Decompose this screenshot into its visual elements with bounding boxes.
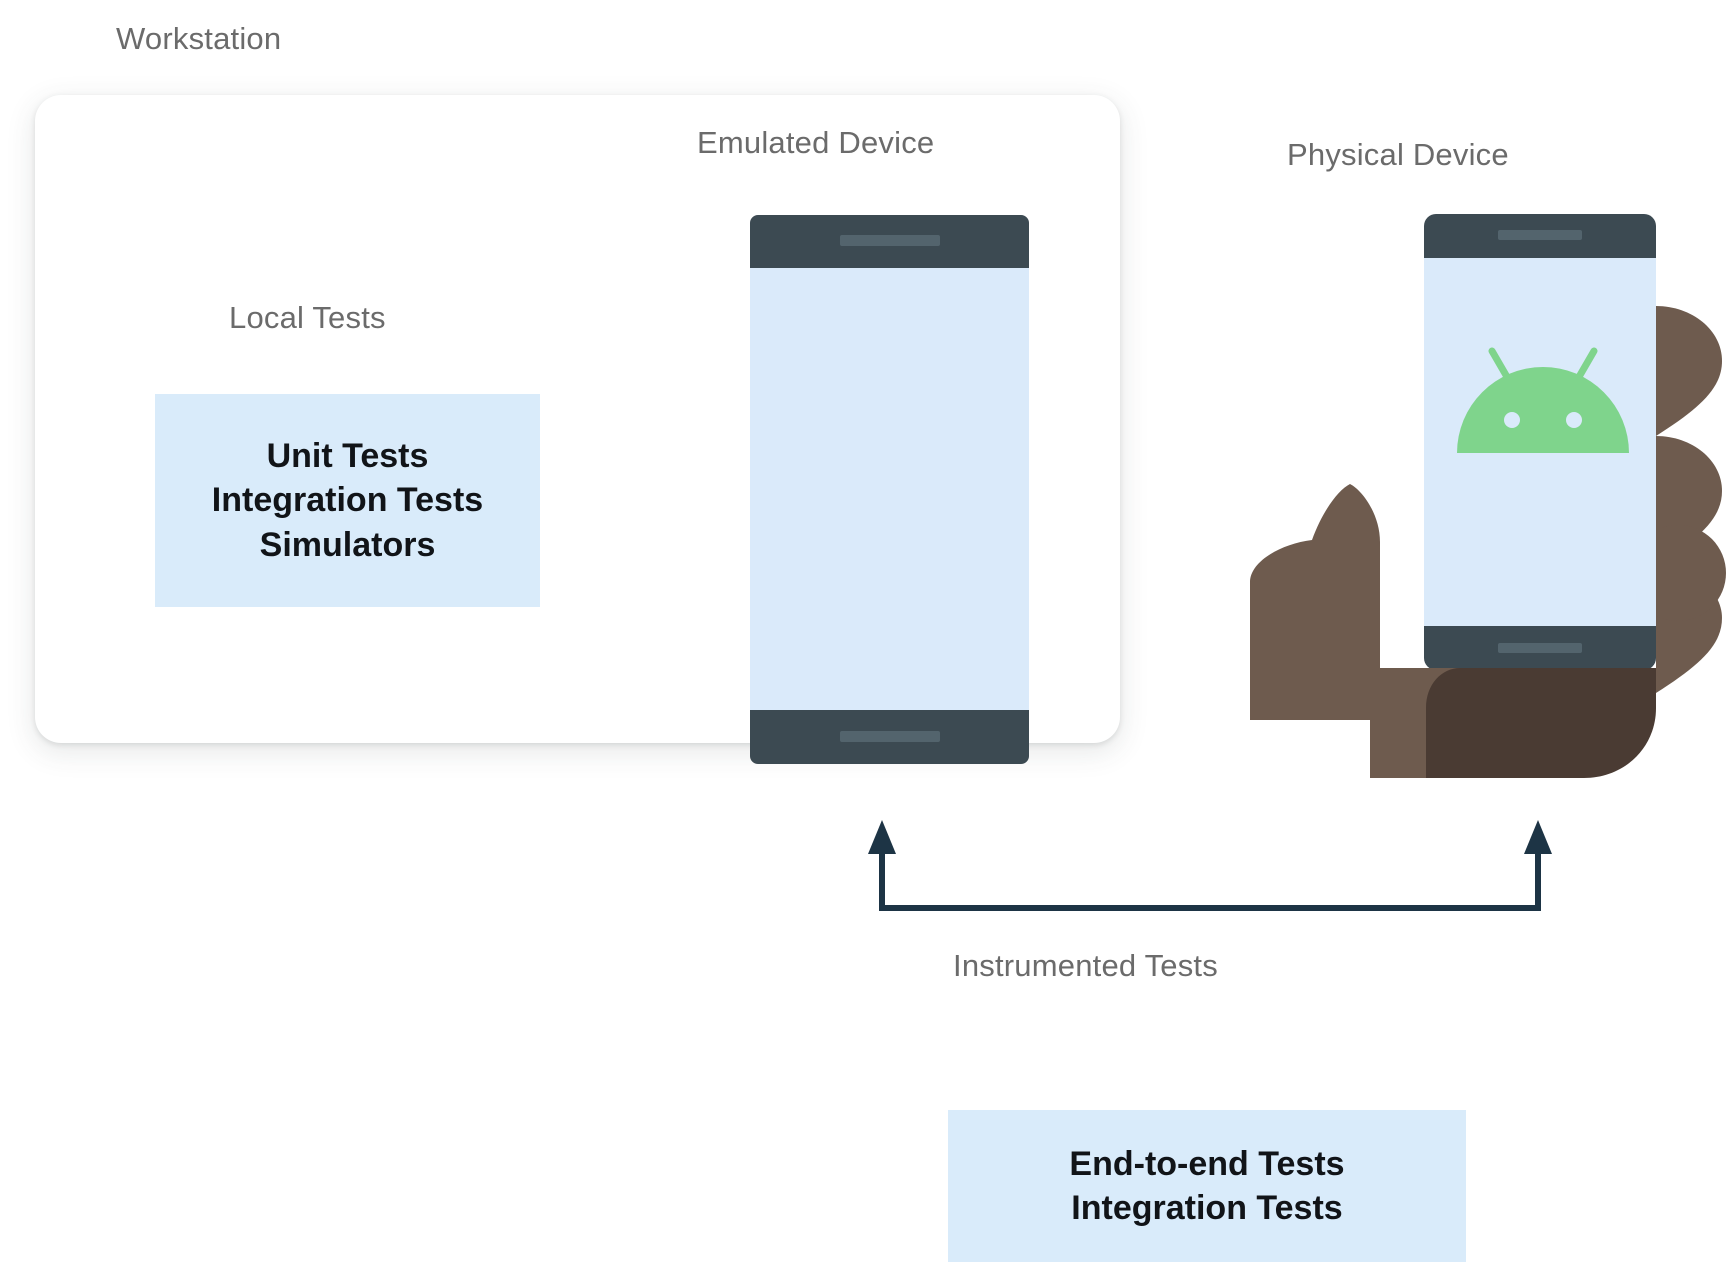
diagram-canvas: Workstation Local Tests Unit Tests Integ… <box>0 0 1726 1286</box>
instrumented-tests-item: Integration Tests <box>1071 1186 1342 1230</box>
local-tests-item: Simulators <box>260 523 436 567</box>
instrumented-tests-item: End-to-end Tests <box>1069 1142 1344 1186</box>
robot-head <box>1457 367 1629 453</box>
phone-bottom-bezel <box>1424 626 1656 670</box>
arrow-path <box>882 842 1538 908</box>
speaker-slot-icon <box>1498 643 1582 653</box>
local-tests-chip: Unit Tests Integration Tests Simulators <box>155 394 540 607</box>
local-tests-label: Local Tests <box>229 300 386 336</box>
arrowhead-right <box>1524 820 1552 854</box>
emulated-device-phone-icon <box>750 215 1029 764</box>
android-robot-icon <box>1457 345 1629 457</box>
workstation-label: Workstation <box>116 21 281 57</box>
phone-screen <box>750 268 1029 710</box>
instrumented-tests-label: Instrumented Tests <box>953 948 1218 984</box>
speaker-slot-icon <box>840 731 940 742</box>
phone-top-bezel <box>750 215 1029 268</box>
local-tests-item: Unit Tests <box>267 434 429 478</box>
emulated-device-label: Emulated Device <box>697 125 934 161</box>
robot-eye-right <box>1566 412 1582 428</box>
thumb-shape <box>1250 484 1380 720</box>
phone-bottom-bezel <box>750 710 1029 764</box>
robot-eye-left <box>1504 412 1520 428</box>
local-tests-item: Integration Tests <box>212 478 483 522</box>
speaker-slot-icon <box>840 235 940 246</box>
phone-top-bezel <box>1424 214 1656 258</box>
instrumented-tests-arrow-icon <box>860 820 1560 930</box>
finger-1 <box>1656 306 1722 436</box>
speaker-slot-icon <box>1498 230 1582 240</box>
finger-group <box>1656 306 1722 693</box>
physical-device-label: Physical Device <box>1287 137 1509 173</box>
arrowhead-left <box>868 820 896 854</box>
palm-front-icon <box>1370 668 1670 778</box>
instrumented-tests-chip: End-to-end Tests Integration Tests <box>948 1110 1466 1262</box>
